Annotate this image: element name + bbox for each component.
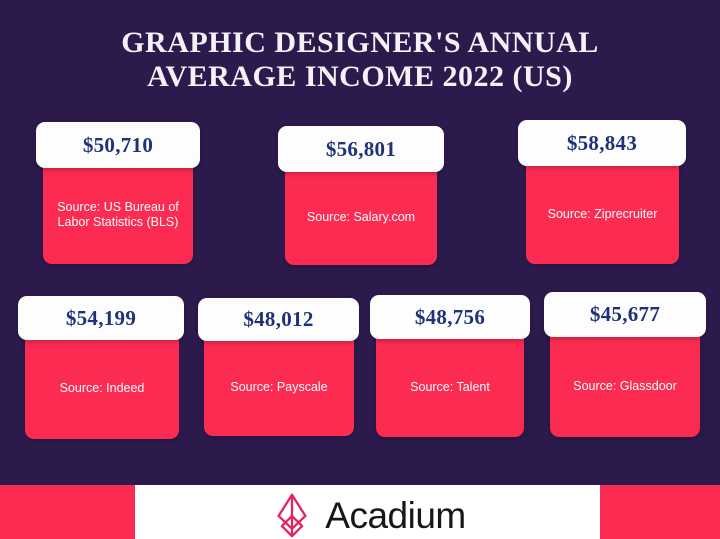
stat-card-header: $48,756 <box>370 295 530 339</box>
title-line-1: Graphic Designer's Annual <box>0 26 720 60</box>
stat-card-body: Source: Salary.com <box>285 170 437 265</box>
infographic-canvas: Graphic Designer's Annual Average Income… <box>0 0 720 539</box>
stat-value: $48,756 <box>415 305 485 330</box>
stat-card-body: Source: Indeed <box>25 338 179 439</box>
stat-value: $56,801 <box>326 137 396 162</box>
brand-lockup: Acadium <box>269 492 465 538</box>
footer-brand-panel: Acadium <box>135 485 600 539</box>
stat-card-body: Source: Talent <box>376 337 524 437</box>
stat-value: $54,199 <box>66 306 136 331</box>
stat-source-label: Source: Ziprecruiter <box>540 207 666 222</box>
stat-card-header: $58,843 <box>518 120 686 166</box>
stat-card-body: Source: Payscale <box>204 339 354 436</box>
stat-card-body: Source: Ziprecruiter <box>526 164 679 264</box>
stat-card-body: Source: US Bureau of Labor Statistics (B… <box>43 166 193 264</box>
stat-source-label: Source: Glassdoor <box>565 379 685 394</box>
stat-card-header: $56,801 <box>278 126 444 172</box>
title-line-2: Average Income 2022 (US) <box>0 60 720 94</box>
acadium-logo-icon <box>269 492 315 538</box>
stat-value: $45,677 <box>590 302 660 327</box>
stat-card-header: $54,199 <box>18 296 184 340</box>
stat-card-header: $48,012 <box>198 298 359 341</box>
stat-card-body: Source: Glassdoor <box>550 335 700 437</box>
stat-card-header: $45,677 <box>544 292 706 337</box>
stat-value: $50,710 <box>83 133 153 158</box>
stat-source-label: Source: Indeed <box>52 381 153 396</box>
footer-bar: Acadium <box>0 485 720 539</box>
stat-value: $58,843 <box>567 131 637 156</box>
stat-source-label: Source: Payscale <box>222 380 335 395</box>
stat-card-header: $50,710 <box>36 122 200 168</box>
stat-value: $48,012 <box>243 307 313 332</box>
brand-name: Acadium <box>325 497 465 534</box>
page-title: Graphic Designer's Annual Average Income… <box>0 26 720 94</box>
stat-source-label: Source: US Bureau of Labor Statistics (B… <box>43 200 193 230</box>
stat-source-label: Source: Talent <box>402 380 498 395</box>
stat-source-label: Source: Salary.com <box>299 210 423 225</box>
